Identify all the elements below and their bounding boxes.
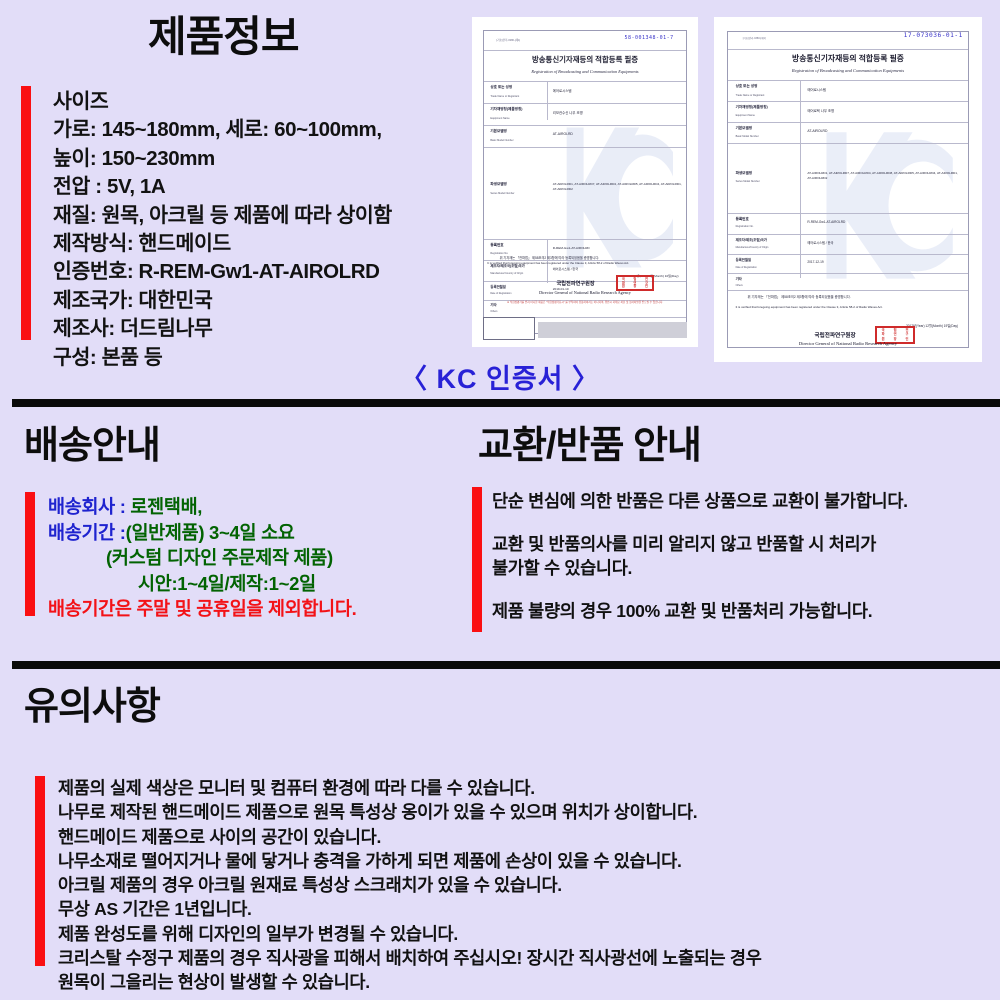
certificate-row-label-ko: 등록연월일	[736, 257, 752, 262]
seal-char: 장	[633, 285, 636, 288]
certificate-title-en: Registration of Broadcasting and Communi…	[728, 68, 967, 73]
product-info-line: 전압 : 5V, 1A	[53, 173, 453, 201]
certificate-row-label-ko: 파생모델명	[736, 171, 753, 176]
notice-line: 제품 완성도를 위해 디자인의 일부가 변경될 수 있습니다.	[58, 922, 988, 946]
certificate-title-en: Registration of Broadcasting and Communi…	[484, 69, 685, 74]
shipping-line: 배송기간 :(일반제품) 3~4일 소요	[48, 520, 458, 546]
certificate-title-ko: 방송통신기자재등의 적합등록 필증	[728, 53, 967, 64]
certificate-footer: 위 기자재는 「전파법」 제58조의2 제3항에 따라 등록되었음을 증명합니다…	[483, 235, 686, 314]
exchange-accent-bar	[472, 487, 482, 632]
notice-line: 나무로 제작된 핸드메이드 제품으로 원목 특성상 옹이가 있을 수 있으며 위…	[58, 800, 988, 824]
kc-certificate-image-left: [기호]관리-0380-[제1] 58-001348-01-7 방송통신기자재등…	[472, 17, 698, 347]
notice-line: 핸드메이드 제품으로 사이의 공간이 있습니다.	[58, 825, 988, 849]
certificate-row-label-ko: 기자재명칭(제품명칭)	[736, 105, 768, 110]
shipping-line: 배송기간은 주말 및 공휴일을 제외합니다.	[48, 596, 458, 622]
shipping-value: 시안:1~4일/제작:1~2일	[138, 573, 316, 594]
certificate-row-label-en: Date of Registration	[736, 266, 757, 269]
certificate-row-label-en: Manufacturer/Country of Origin	[736, 246, 769, 249]
certificate-row-value: AT-AIROLRD1, AT-AIROLRD7, AT-AIROLRD4, A…	[553, 182, 682, 191]
certificate-blank-box	[483, 317, 535, 340]
certificate-row-label-ko: 상호 또는 성명	[490, 85, 512, 90]
exchange-paragraph: 제품 불량의 경우 100% 교환 및 반품처리 가능합니다.	[492, 599, 992, 623]
certificate-row-label-en: Registration No.	[736, 225, 754, 228]
shipping-line: 배송회사 : 로젠택배,	[48, 494, 458, 520]
exchange-heading: 교환/반품 안내	[478, 424, 701, 468]
section-divider	[12, 399, 1000, 407]
exchange-line: 불가할 수 있습니다.	[492, 556, 992, 580]
certificate-row-value: 에어로텍 나무 조명	[807, 108, 834, 113]
certificate-row-label-en: Equipment Name	[490, 117, 509, 120]
shipping-value: (커스텀 디자인 주문제작 제품)	[106, 547, 333, 568]
notices-heading: 유의사항	[24, 685, 160, 729]
product-info-heading: 제품정보	[148, 14, 299, 60]
seal-char: 원	[622, 285, 625, 288]
certificate-row-label-ko: 기자재명칭(제품명칭)	[490, 107, 522, 112]
exchange-list: 단순 변심에 의한 반품은 다른 상품으로 교환이 불가합니다. 교환 및 반품…	[492, 489, 992, 623]
shipping-accent-bar	[25, 492, 35, 616]
certificate-grey-bar	[538, 322, 687, 339]
certificate-note-ko: 위 기자재는 「전파법」 제58조의2 제3항에 따라 등록되었음을 증명합니다…	[748, 295, 961, 300]
shipping-value: 로젠택배,	[130, 496, 202, 517]
kc-watermark-icon	[815, 114, 959, 297]
certificate-row-value: AT-AIROLRD1, AT-AIROLRD7, AT-AIROLRD4, A…	[807, 171, 963, 182]
notice-line: 나무소재로 떨어지거나 물에 닿거나 충격을 가하게 되면 제품에 손상이 있을…	[58, 849, 988, 873]
certificate-row-value: R-REM-Gw1-AT-AIROLRD	[807, 220, 845, 224]
notice-line: 아크릴 제품의 경우 아크릴 원재료 특성상 스크래치가 있을 수 있습니다.	[58, 873, 988, 897]
kc-certificate-image-right: [기호]관리-0380-[제1] 17-073036-01-1 방송통신기자재등…	[714, 17, 982, 362]
certificate-row-label-ko: 기타	[736, 276, 742, 281]
certificate-agency-ko: 국립전파연구원장	[815, 331, 856, 339]
certificate-row-value: 에어로시스템 / 한국	[807, 240, 833, 245]
shipping-value: 배송기간은 주말 및 공휴일을 제외합니다.	[48, 598, 356, 619]
seal-char: 인	[645, 285, 648, 288]
certificate-row-label-en: Basic Model Number	[490, 139, 513, 142]
notice-line: 제품의 실제 색상은 모니터 및 컴퓨터 환경에 따라 다를 수 있습니다.	[58, 776, 988, 800]
certificate-note-en: It is verified that foregoing equipment …	[487, 261, 682, 265]
section-divider	[12, 661, 1000, 669]
certificate-agency-en: Director General of National Radio Resea…	[483, 290, 686, 295]
exchange-line: 교환 및 반품의사를 미리 알리지 않고 반품할 시 처리가	[492, 532, 992, 556]
notice-line: 크리스탈 수정구 제품의 경우 직사광을 피해서 배치하여 주십시오! 장시간 …	[58, 946, 988, 970]
certificate-row-value: 리모컨수신 나무 조명	[553, 110, 583, 115]
shipping-line: (커스텀 디자인 주문제작 제품)	[48, 545, 458, 571]
certificate-row-label-ko: 제조자/제조(조립)국가	[736, 237, 767, 242]
product-info-line: 사이즈	[53, 88, 453, 116]
certificate-note-en: It is verified that foregoing equipment …	[736, 305, 961, 310]
shipping-list: 배송회사 : 로젠택배, 배송기간 :(일반제품) 3~4일 소요 (커스텀 디…	[48, 494, 458, 622]
exchange-line: 제품 불량의 경우 100% 교환 및 반품처리 가능합니다.	[492, 599, 992, 623]
product-info-line: 제조사: 더드림나무	[53, 315, 453, 343]
notices-list: 제품의 실제 색상은 모니터 및 컴퓨터 환경에 따라 다를 수 있습니다. 나…	[58, 776, 988, 995]
certificate-row-value: 에어로시스템	[807, 87, 826, 92]
certificate-top-code: 58-001348-01-7	[624, 35, 673, 41]
certificate-row-label-ko: 등록번호	[736, 217, 749, 222]
product-info-line: 제작방식: 핸드메이드	[53, 230, 453, 258]
certificate-row-label-en: Trade Name or Registrant	[490, 95, 519, 98]
kc-certificate-caption: 〈 KC 인증서 〉	[0, 357, 1000, 396]
certificate-left-code: [기호]관리-0380-[제1]	[743, 36, 766, 40]
notice-line: 무상 AS 기간은 1년입니다.	[58, 897, 988, 921]
notices-accent-bar	[35, 776, 45, 966]
certificate-agency-en: Director General of National Radio Resea…	[728, 341, 967, 346]
certificate-left-code: [기호]관리-0380-[제1]	[496, 38, 520, 42]
certificate-row-label-en: Basic Model Number	[736, 135, 759, 138]
shipping-label: 배송기간 :	[48, 522, 126, 543]
certificate-row-label-en: Equipment Name	[736, 114, 755, 117]
certificate-row-label-en: Others	[736, 284, 743, 287]
certificate-row-value: AT-AIROLRD	[807, 129, 827, 133]
product-info-list: 사이즈 가로: 145~180mm, 세로: 60~100mm, 높이: 150…	[53, 88, 453, 372]
product-info-line: 가로: 145~180mm, 세로: 60~100mm,	[53, 116, 453, 144]
exchange-paragraph: 단순 변심에 의한 반품은 다른 상품으로 교환이 불가합니다.	[492, 489, 992, 513]
shipping-line: 시안:1~4일/제작:1~2일	[48, 571, 458, 597]
product-detail-page: 제품정보 사이즈 가로: 145~180mm, 세로: 60~100mm, 높이…	[0, 0, 1000, 1000]
product-info-line: 높이: 150~230mm	[53, 145, 453, 173]
certificate-title-ko: 방송통신기자재등의 적합등록 필증	[484, 54, 685, 65]
certificate-row-value: 에어로시스템	[553, 88, 572, 93]
product-accent-bar	[21, 86, 31, 340]
certificate-red-warning: ※ 적합성평가를 받지 아니한 제품은 "적합성평가표시" 를 부착하여 유통하…	[491, 301, 678, 305]
certificate-row-value: 2017-12-19	[807, 260, 823, 264]
certificate-row-label-ko: 파생모델명	[490, 182, 507, 187]
product-info-line: 제조국가: 대한민국	[53, 287, 453, 315]
exchange-line: 단순 변심에 의한 반품은 다른 상품으로 교환이 불가합니다.	[492, 489, 992, 513]
certificate-row-value: AT-AIROLRD	[553, 132, 573, 136]
product-info-line: 인증번호: R-REM-Gw1-AT-AIROLRD	[53, 258, 453, 286]
shipping-value: (일반제품) 3~4일 소요	[126, 522, 295, 543]
certificate-row-label-ko: 기본모델명	[736, 126, 753, 131]
certificate-row-label-ko: 기본모델명	[490, 129, 507, 134]
official-seal-stamp: 국 립 전 파 연 구 원 장 인	[616, 275, 655, 291]
product-info-line: 재질: 원목, 아크릴 등 제품에 따라 상이함	[53, 202, 453, 230]
certificate-body: [기호]관리-0380-[제1] 17-073036-01-1 방송통신기자재등…	[727, 31, 968, 348]
certificate-row-label-en: Trade Name or Registrant	[736, 94, 765, 97]
certificate-top-code: 17-073036-01-1	[904, 32, 963, 39]
certificate-row-label-ko: 상호 또는 성명	[736, 84, 758, 89]
notice-line: 원목이 그을리는 현상이 발생할 수 있습니다.	[58, 970, 988, 994]
shipping-label: 배송회사 :	[48, 496, 130, 517]
certificate-row-label-en: Series Model Number	[736, 180, 760, 183]
certificate-row-label-en: Series Model Number	[490, 192, 514, 195]
certificate-agency-ko: 국립전파연구원장	[557, 280, 595, 287]
shipping-heading: 배송안내	[24, 424, 160, 468]
exchange-paragraph: 교환 및 반품의사를 미리 알리지 않고 반품할 시 처리가 불가할 수 있습니…	[492, 532, 992, 580]
